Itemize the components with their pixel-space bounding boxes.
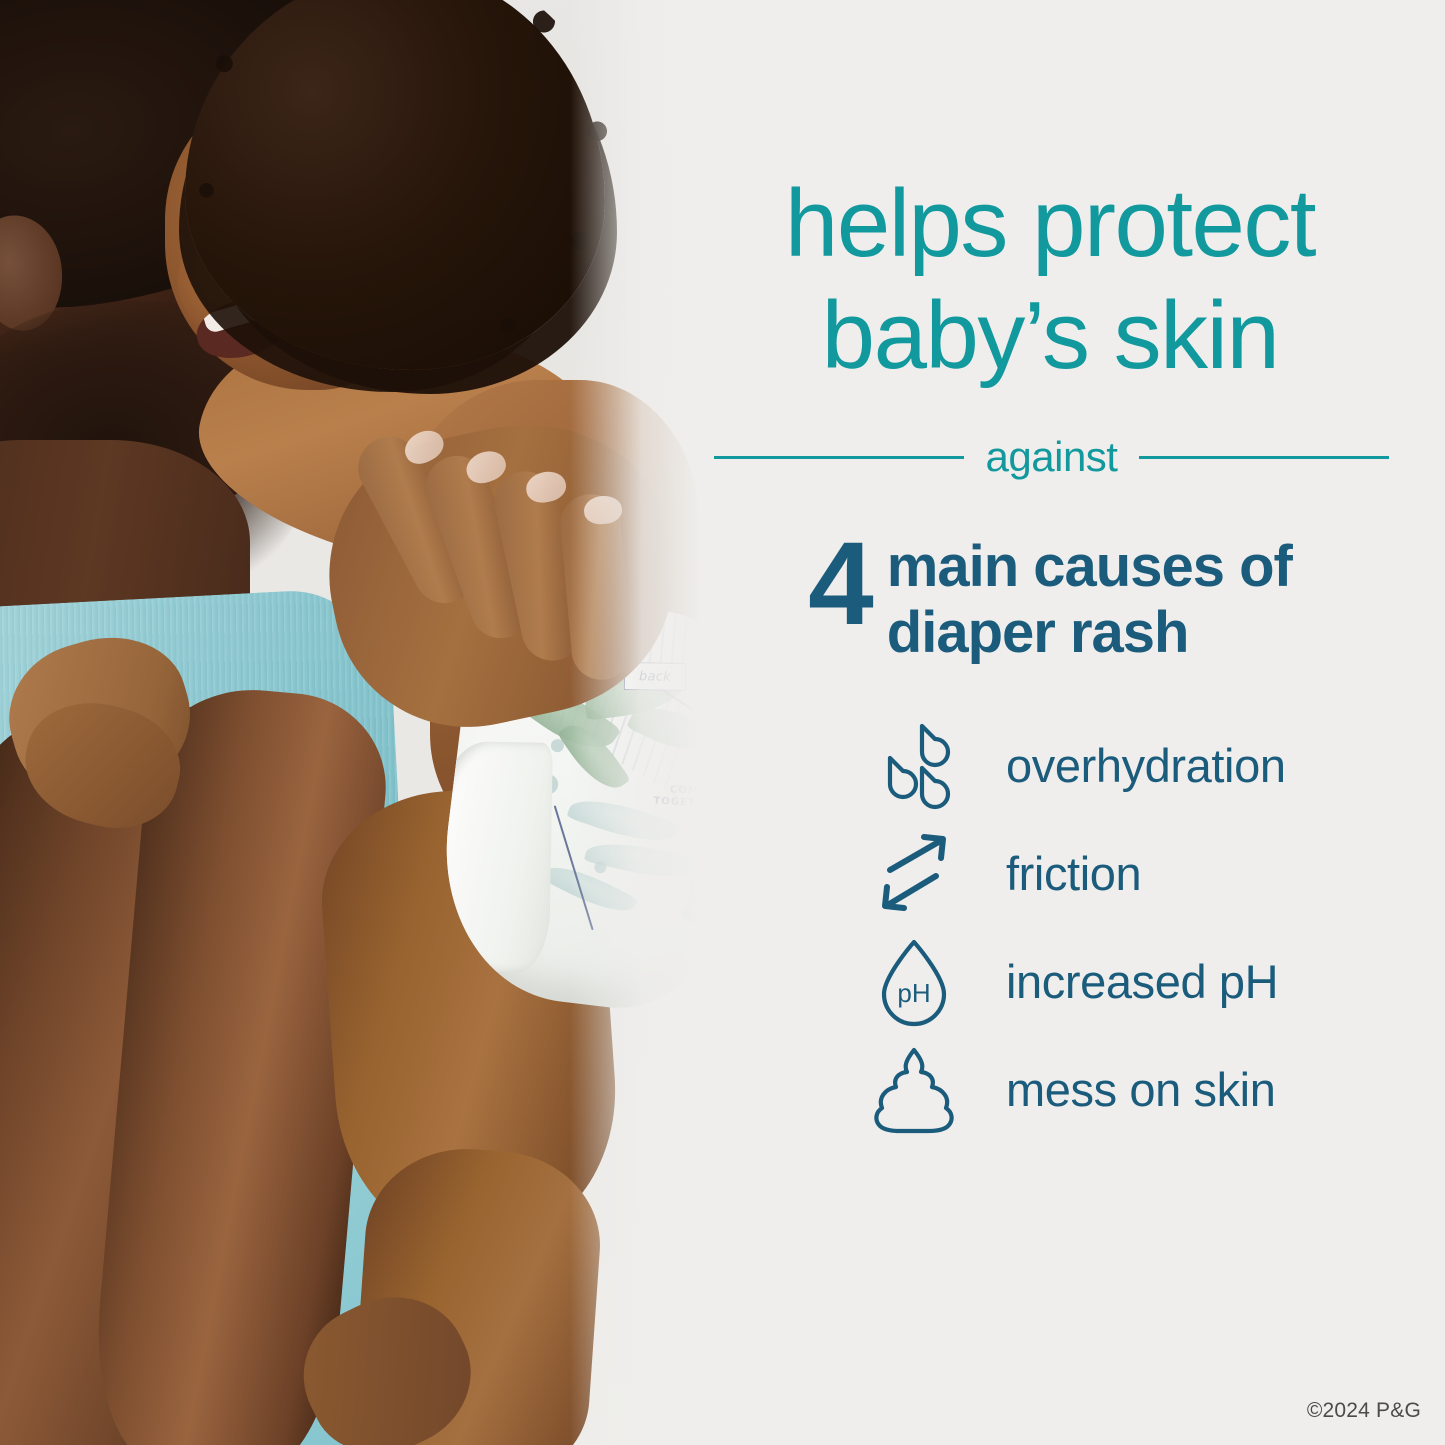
baby-curly-hair (185, 0, 605, 370)
photo-edge-fade (570, 0, 700, 1445)
ad-creative: back COME TOGETHER helps protect baby’s … (0, 0, 1445, 1445)
causes-heading-line-2: diaper rash (887, 600, 1292, 666)
mess-icon (860, 1042, 968, 1138)
cause-item-increased-ph: pH increased pH (860, 928, 1400, 1036)
hero-photo-father-holding-baby: back COME TOGETHER (0, 0, 700, 1445)
cause-label: mess on skin (1006, 1063, 1275, 1117)
causes-list: overhydration friction (860, 712, 1400, 1144)
copyright-notice: ©2024 P&G (1307, 1399, 1421, 1423)
causes-heading: 4 main causes of diaper rash (700, 518, 1400, 666)
against-divider: against (714, 434, 1389, 480)
content-panel: helps protect baby’s skin against 4 main… (700, 0, 1445, 1445)
cause-label: overhydration (1006, 739, 1286, 793)
headline-line-1: helps protect (700, 168, 1400, 280)
friction-arrows-icon (860, 826, 968, 922)
cause-label: friction (1006, 847, 1141, 901)
cause-item-mess-on-skin: mess on skin (860, 1036, 1400, 1144)
water-droplets-icon (860, 718, 968, 814)
divider-rule-right (1139, 456, 1389, 459)
svg-text:pH: pH (897, 978, 930, 1008)
causes-heading-text: main causes of diaper rash (887, 518, 1292, 666)
headline: helps protect baby’s skin (700, 168, 1400, 392)
divider-label: against (986, 434, 1118, 480)
cause-item-overhydration: overhydration (860, 712, 1400, 820)
divider-rule-left (714, 456, 964, 459)
causes-heading-line-1: main causes of (887, 534, 1292, 600)
cause-label: increased pH (1006, 955, 1278, 1009)
diaper-berry-print (550, 738, 564, 752)
causes-count: 4 (808, 518, 871, 650)
ph-droplet-icon: pH (860, 934, 968, 1030)
cause-item-friction: friction (860, 820, 1400, 928)
headline-line-2: baby’s skin (700, 280, 1400, 392)
